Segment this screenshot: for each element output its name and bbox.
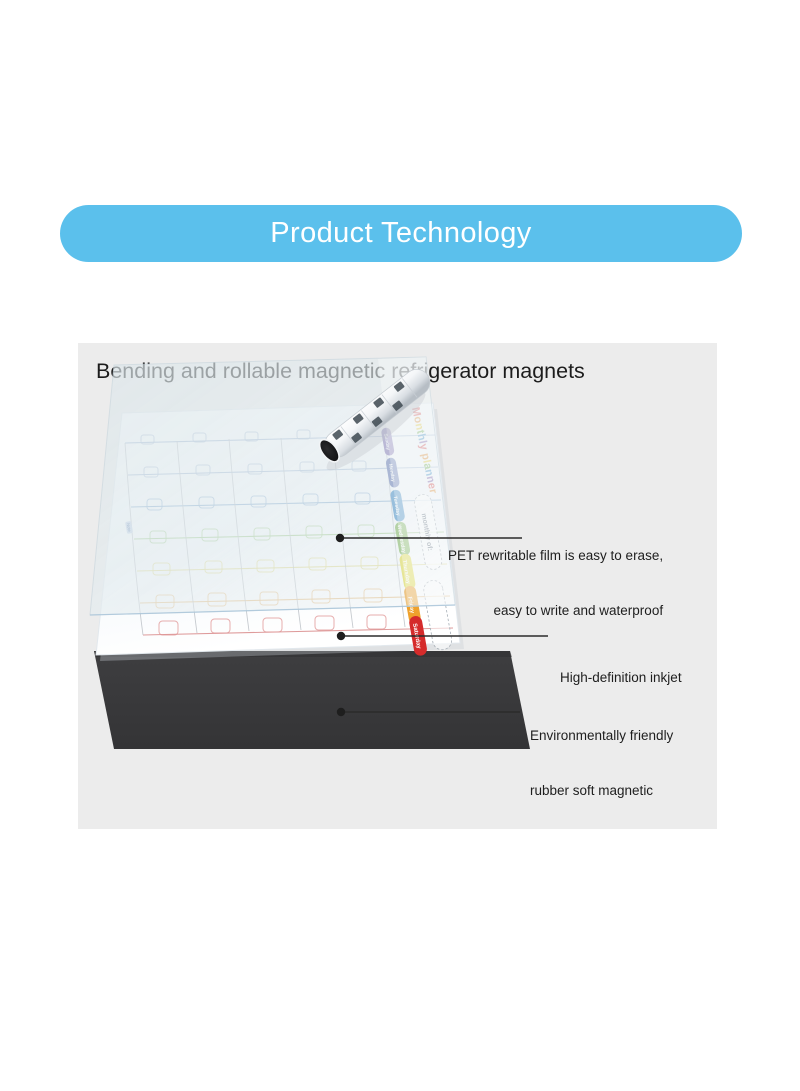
leader-dot-rubber-magnet xyxy=(337,708,345,716)
page-title: Product Technology xyxy=(270,219,531,248)
annotation-rubber-magnet: Environmentally friendly rubber soft mag… xyxy=(530,691,673,837)
content-panel: Bending and rollable magnetic refrigerat… xyxy=(78,343,717,829)
rubber-magnet-layer xyxy=(94,651,530,749)
page-banner: Product Technology xyxy=(60,205,742,262)
leader-dot-inkjet xyxy=(337,632,345,640)
annotation-rubber-magnet-line2: rubber soft magnetic xyxy=(530,782,673,800)
annotation-rubber-magnet-line1: Environmentally friendly xyxy=(530,727,673,745)
annotation-inkjet-line1: High-definition inkjet xyxy=(560,669,682,687)
leader-dot-pet-film xyxy=(336,534,344,542)
annotation-pet-film-line2: easy to write and waterproof xyxy=(448,602,663,620)
annotation-pet-film-line1: PET rewritable film is easy to erase, xyxy=(448,547,663,565)
